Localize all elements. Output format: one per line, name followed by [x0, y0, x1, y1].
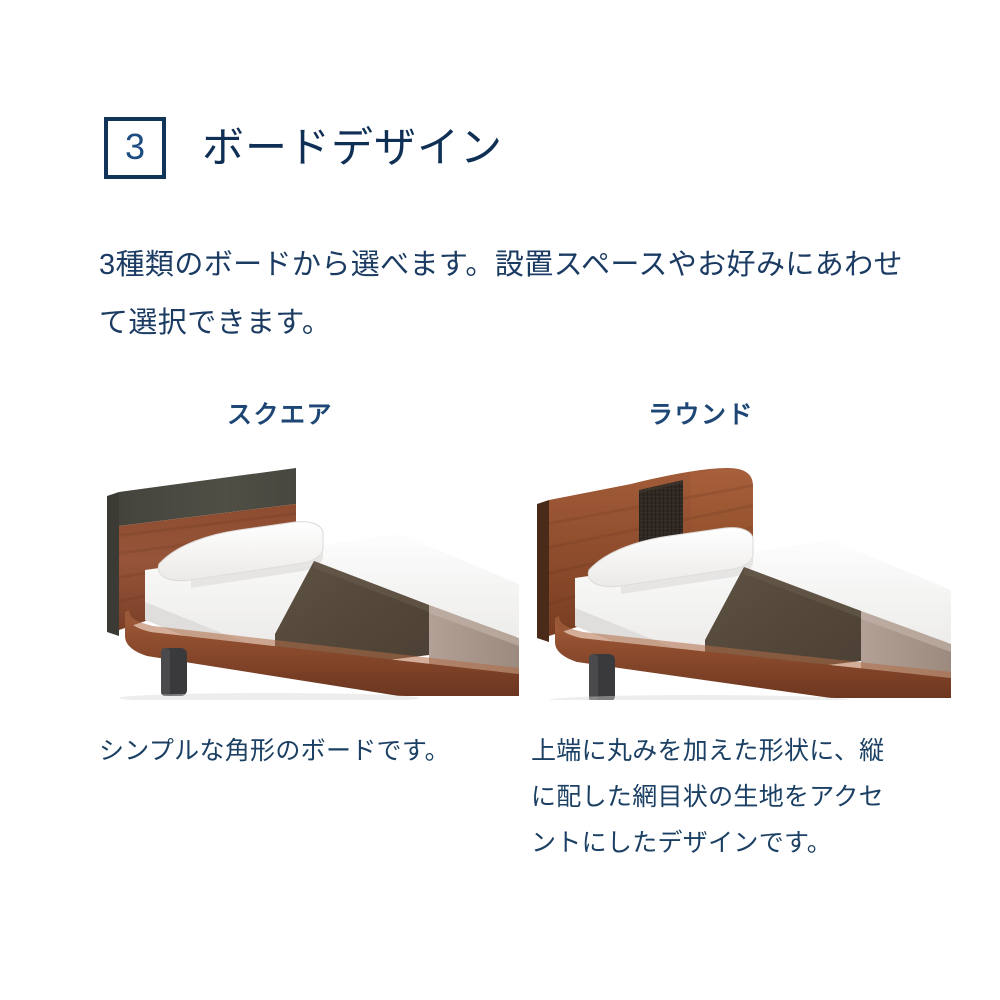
board-option-square: スクエア	[99, 398, 519, 799]
step-number: 3	[125, 129, 145, 165]
square-board-bed-photo	[99, 460, 519, 700]
bed-leg	[161, 648, 187, 696]
square-bed-illustration	[99, 460, 519, 700]
board-option-round-heading: ラウンド	[531, 398, 951, 432]
headboard-side-edge	[537, 500, 549, 642]
board-option-round-caption: 上端に丸みを加えた形状に、縦に配した網目状の生地をアクセントにしたデザインです。	[531, 728, 903, 866]
page-title: ボードデザイン	[202, 127, 503, 169]
bed-leg	[589, 654, 615, 700]
board-option-square-caption: シンプルな角形のボードです。	[99, 728, 455, 774]
board-option-square-heading: スクエア	[99, 398, 519, 432]
round-bed-illustration	[531, 460, 951, 700]
step-number-badge: 3	[104, 117, 166, 179]
round-board-bed-photo	[531, 460, 951, 700]
board-design-section: 3 ボードデザイン 3種類のボードから選べます。設置スペースやお好みにあわせて選…	[0, 0, 1000, 1000]
section-description: 3種類のボードから選べます。設置スペースやお好みにあわせて選択できます。	[99, 236, 929, 352]
headboard-side-edge	[107, 492, 119, 636]
board-option-round: ラウンド	[531, 398, 951, 891]
section-header: 3 ボードデザイン	[104, 99, 503, 197]
